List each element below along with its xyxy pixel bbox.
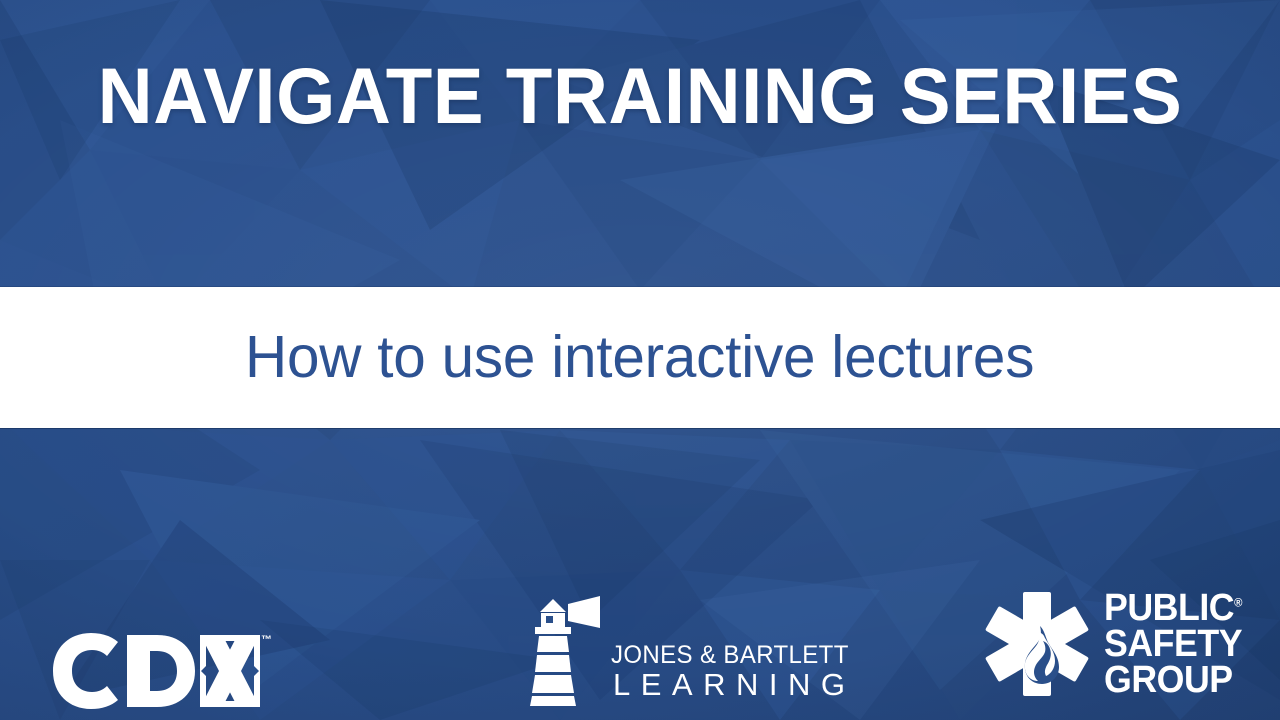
page-title: NAVIGATE TRAINING SERIES [98, 56, 1183, 137]
psg-line-safety: SAFETY [1104, 626, 1242, 662]
cdx-logo: ™ [52, 632, 272, 710]
cdx-trademark-symbol: ™ [261, 635, 272, 646]
jones-bartlett-line1: JONES & BARTLETT [611, 643, 849, 668]
logo-row: ™ [0, 580, 1280, 720]
cdx-wordmark-icon [52, 632, 260, 710]
psg-line-group: GROUP [1104, 662, 1242, 698]
jones-bartlett-line2: LEARNING [613, 668, 859, 703]
psg-line-public: PUBLIC® [1104, 590, 1242, 626]
public-safety-group-logo: PUBLIC® SAFETY GROUP [984, 588, 1251, 700]
psg-registered-symbol: ® [1234, 595, 1242, 609]
jones-bartlett-logo: JONES & BARTLETT LEARNING [516, 594, 859, 706]
page-subtitle: How to use interactive lectures [245, 323, 1034, 391]
star-of-life-flame-icon [984, 588, 1090, 700]
jones-bartlett-wordmark: JONES & BARTLETT LEARNING [611, 643, 859, 703]
title-area: NAVIGATE TRAINING SERIES [0, 0, 1280, 287]
lighthouse-icon [516, 594, 606, 706]
slide-canvas: NAVIGATE TRAINING SERIES How to use inte… [0, 0, 1280, 720]
subtitle-band: How to use interactive lectures [0, 287, 1280, 428]
public-safety-group-wordmark: PUBLIC® SAFETY GROUP [1104, 590, 1251, 698]
